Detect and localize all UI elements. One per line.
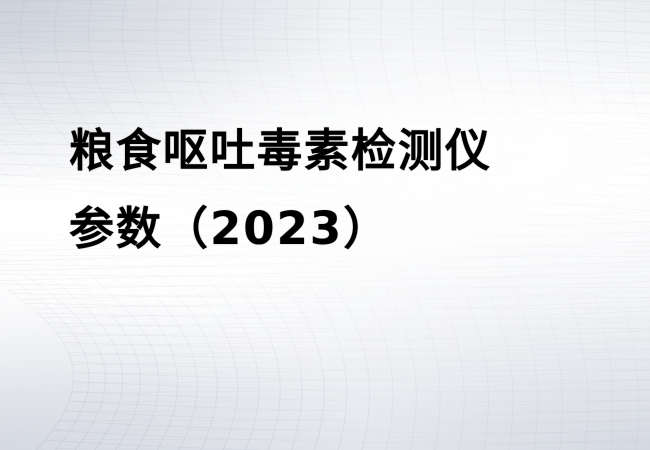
title-line-1: 粮食呕吐毒素检测仪 [69, 112, 589, 190]
page-title: 粮食呕吐毒素检测仪 参数（2023） [69, 112, 589, 268]
title-line-2: 参数（2023） [69, 190, 589, 268]
banner-canvas: 粮食呕吐毒素检测仪 参数（2023） [0, 0, 650, 450]
